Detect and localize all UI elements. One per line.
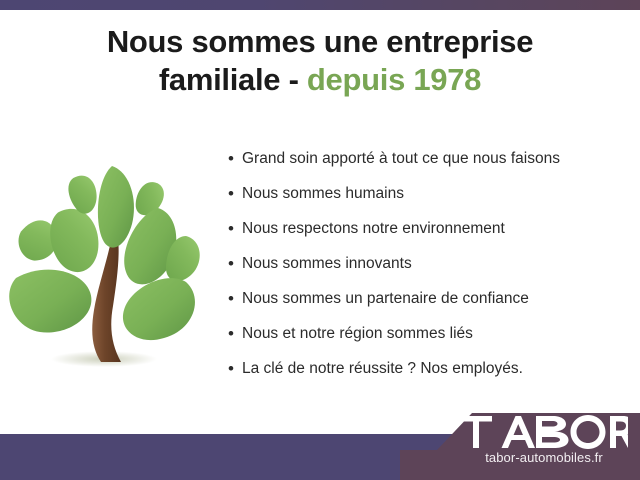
list-item: • Nous sommes humains [228, 183, 628, 218]
tree-illustration [8, 158, 218, 383]
list-item: • La clé de notre réussite ? Nos employé… [228, 358, 628, 393]
bullet-marker-icon: • [228, 323, 242, 345]
list-item-label: Nous sommes innovants [242, 253, 412, 275]
bullet-marker-icon: • [228, 218, 242, 240]
title-line-2: familiale - depuis 1978 [0, 62, 640, 98]
list-item-label: Nous sommes humains [242, 183, 404, 205]
list-item-label: Nous sommes un partenaire de confiance [242, 288, 529, 310]
bullet-marker-icon: • [228, 183, 242, 205]
list-item: • Nous et notre région sommes liés [228, 323, 628, 358]
value-proposition-list: • Grand soin apporté à tout ce que nous … [228, 148, 628, 393]
title-accent-year: depuis 1978 [307, 62, 481, 97]
list-item: • Grand soin apporté à tout ce que nous … [228, 148, 628, 183]
title-line-2-static: familiale - [159, 62, 307, 97]
list-item: • Nous respectons notre environnement [228, 218, 628, 253]
bullet-marker-icon: • [228, 358, 242, 380]
bullet-marker-icon: • [228, 288, 242, 310]
list-item: • Nous sommes un partenaire de confiance [228, 288, 628, 323]
list-item-label: Nous et notre région sommes liés [242, 323, 473, 345]
slide-canvas: Nous sommes une entreprise familiale - d… [0, 0, 640, 480]
tabor-wordmark-icon [460, 415, 628, 449]
brand-logo[interactable]: tabor-automobiles.fr [456, 415, 640, 475]
title-line-1: Nous sommes une entreprise [0, 24, 640, 60]
list-item: • Nous sommes innovants [228, 253, 628, 288]
bullet-marker-icon: • [228, 253, 242, 275]
brand-url: tabor-automobiles.fr [456, 450, 632, 465]
list-item-label: Grand soin apporté à tout ce que nous fa… [242, 148, 560, 170]
top-accent-bar [0, 0, 640, 10]
footer-left-bar [0, 434, 460, 480]
bullet-marker-icon: • [228, 148, 242, 170]
list-item-label: La clé de notre réussite ? Nos employés. [242, 358, 523, 380]
list-item-label: Nous respectons notre environnement [242, 218, 505, 240]
page-title: Nous sommes une entreprise familiale - d… [0, 24, 640, 99]
